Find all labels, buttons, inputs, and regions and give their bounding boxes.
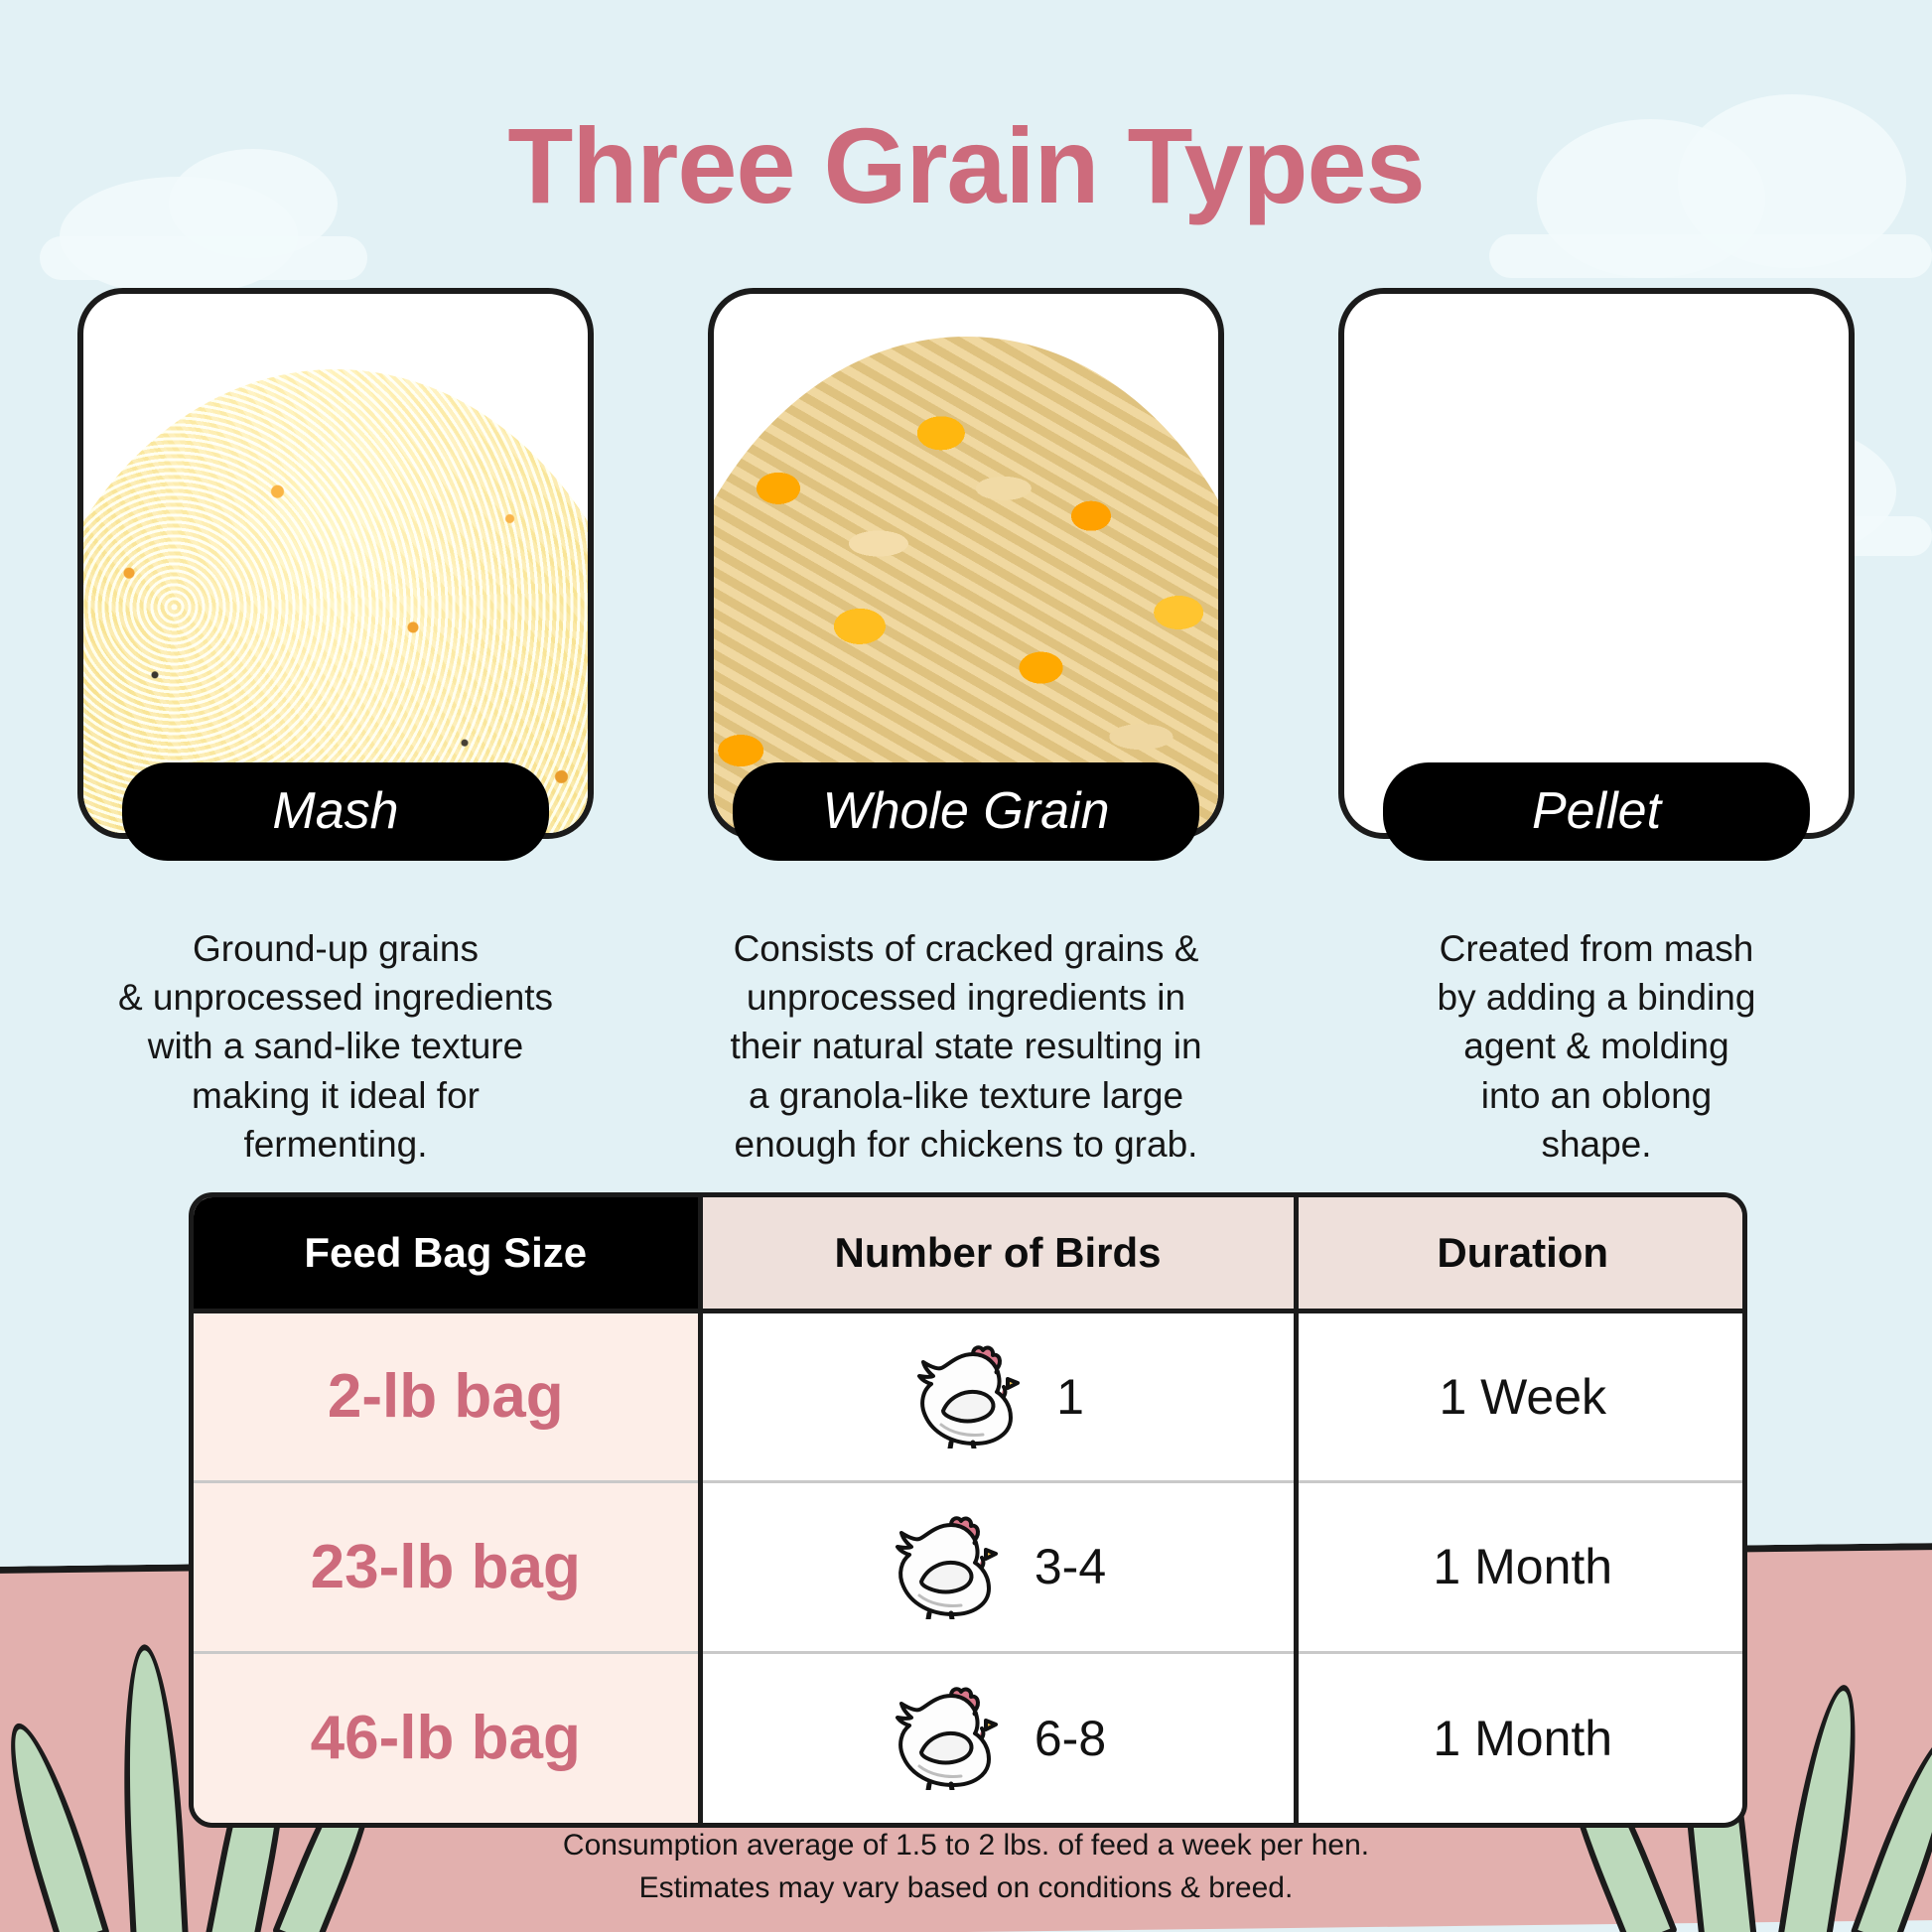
bird-count: 3-4 bbox=[1035, 1538, 1106, 1595]
whole-grain-heap-icon bbox=[714, 294, 1218, 833]
cell-number-of-birds: 1 bbox=[700, 1311, 1296, 1481]
cell-duration: 1 Month bbox=[1296, 1652, 1747, 1823]
cell-duration: 1 Week bbox=[1296, 1311, 1747, 1481]
table-header-row: Feed Bag Size Number of Birds Duration bbox=[194, 1197, 1747, 1311]
cell-bag-size: 23-lb bag bbox=[194, 1481, 700, 1652]
mash-heap-icon bbox=[83, 294, 588, 833]
grain-card-whole-grain: Whole Grain Consists of cracked grains &… bbox=[708, 288, 1224, 1169]
cell-number-of-birds: 3-4 bbox=[700, 1481, 1296, 1652]
cell-bag-size: 2-lb bag bbox=[194, 1311, 700, 1481]
hen-icon bbox=[890, 1681, 1009, 1795]
footnote: Consumption average of 1.5 to 2 lbs. of … bbox=[0, 1825, 1932, 1909]
whole-grain-description: Consists of cracked grains & unprocessed… bbox=[708, 924, 1224, 1169]
table-row: 2-lb bag bbox=[194, 1311, 1747, 1481]
bird-count: 6-8 bbox=[1035, 1710, 1106, 1767]
table-row: 46-lb bag bbox=[194, 1652, 1747, 1823]
table-header-number-of-birds: Number of Birds bbox=[700, 1197, 1296, 1311]
mash-photo bbox=[77, 288, 594, 839]
cell-number-of-birds: 6-8 bbox=[700, 1652, 1296, 1823]
cell-bag-size: 46-lb bag bbox=[194, 1652, 700, 1823]
hen-icon bbox=[911, 1339, 1031, 1453]
cell-duration: 1 Month bbox=[1296, 1481, 1747, 1652]
bird-count: 1 bbox=[1056, 1368, 1084, 1426]
grain-type-cards: Mash Ground-up grains & unprocessed ingr… bbox=[0, 288, 1932, 1169]
mash-description: Ground-up grains & unprocessed ingredien… bbox=[77, 924, 594, 1169]
whole-grain-photo bbox=[708, 288, 1224, 839]
pellet-heap-icon bbox=[1344, 294, 1849, 833]
table-row: 23-lb bag bbox=[194, 1481, 1747, 1652]
hen-icon bbox=[890, 1510, 1009, 1624]
pellet-label-badge: Pellet bbox=[1383, 762, 1810, 861]
pellet-description: Created from mash by adding a binding ag… bbox=[1338, 924, 1855, 1169]
footnote-line-2: Estimates may vary based on conditions &… bbox=[0, 1867, 1932, 1910]
cloud-icon bbox=[40, 236, 367, 280]
page-title: Three Grain Types bbox=[0, 103, 1932, 227]
whole-grain-label-badge: Whole Grain bbox=[733, 762, 1199, 861]
pellet-photo bbox=[1338, 288, 1855, 839]
footnote-line-1: Consumption average of 1.5 to 2 lbs. of … bbox=[0, 1825, 1932, 1867]
infographic-canvas: Three Grain Types Mash Ground-up grains … bbox=[0, 0, 1932, 1932]
mash-label-badge: Mash bbox=[122, 762, 549, 861]
grain-card-pellet: Pellet Created from mash by adding a bin… bbox=[1338, 288, 1855, 1169]
feed-bag-table: Feed Bag Size Number of Birds Duration 2… bbox=[189, 1192, 1747, 1828]
table-header-duration: Duration bbox=[1296, 1197, 1747, 1311]
cloud-icon bbox=[1489, 234, 1932, 278]
table-header-feed-bag-size: Feed Bag Size bbox=[194, 1197, 700, 1311]
grain-card-mash: Mash Ground-up grains & unprocessed ingr… bbox=[77, 288, 594, 1169]
